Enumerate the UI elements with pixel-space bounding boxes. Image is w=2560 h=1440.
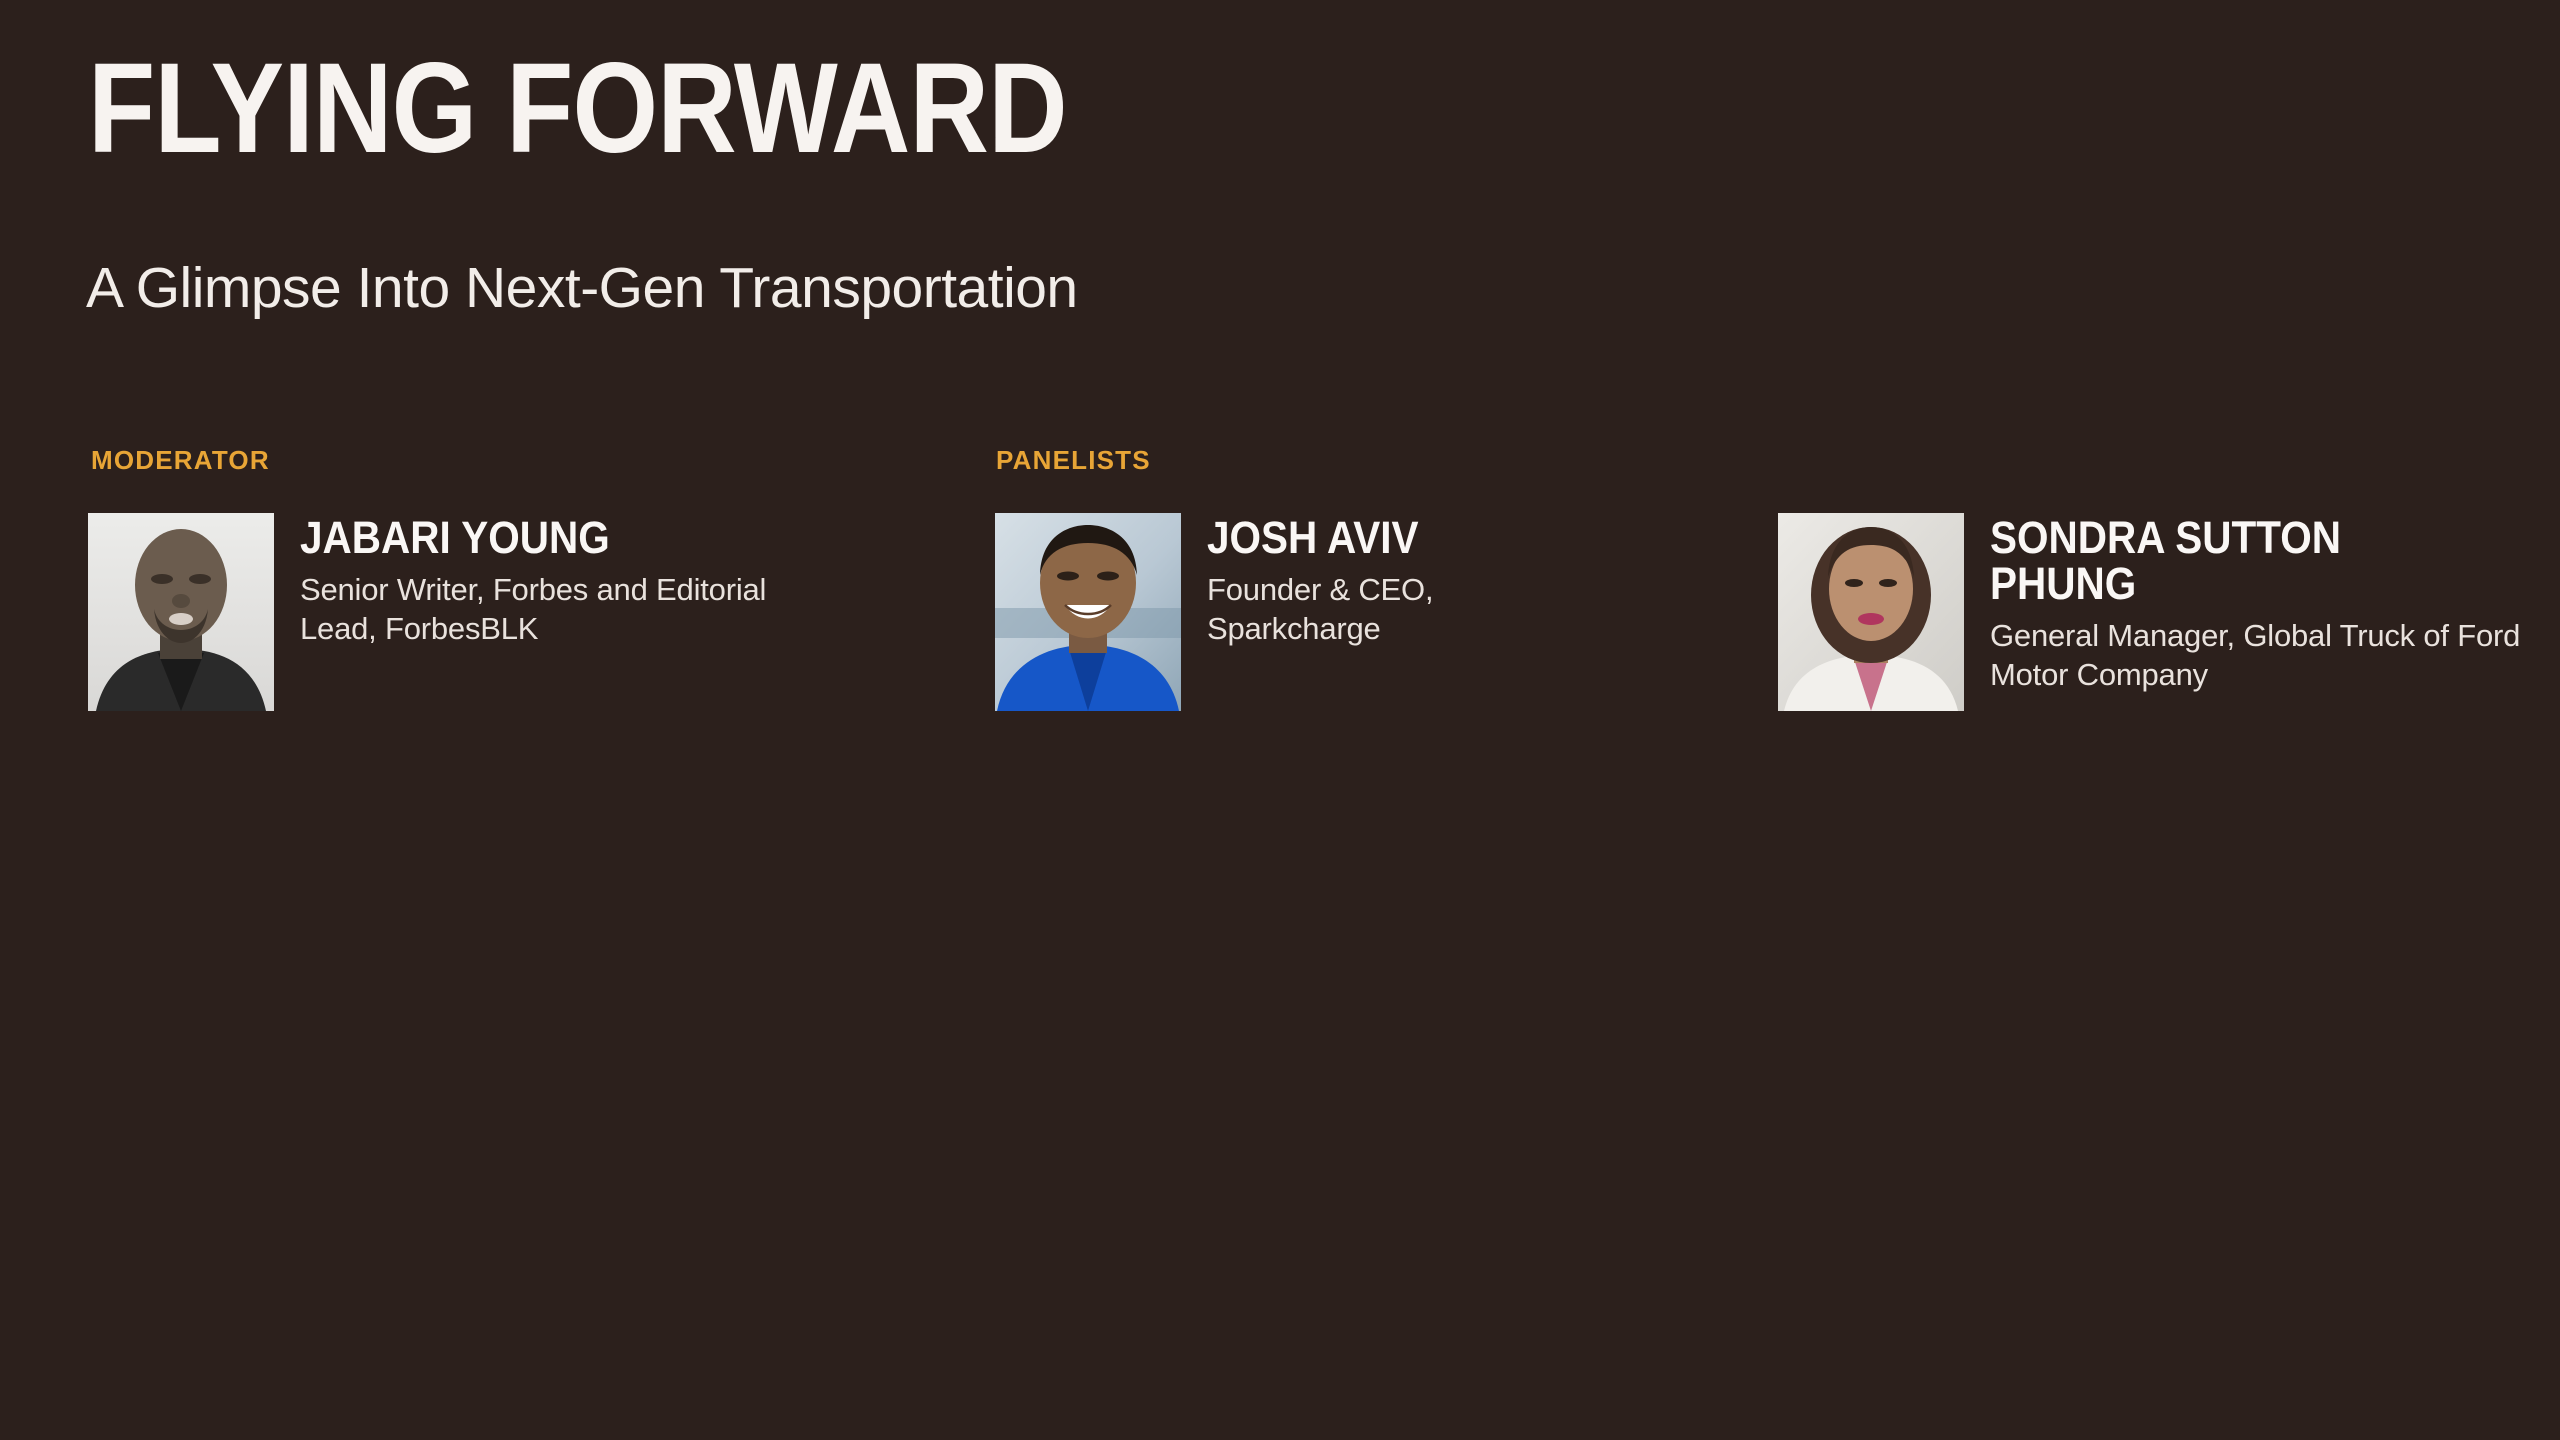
- person-title: Founder & CEO, Sparkcharge: [1207, 570, 1475, 648]
- person-info: JABARI YOUNG Senior Writer, Forbes and E…: [300, 513, 840, 648]
- person-card-panelist-2: SONDRA SUTTON PHUNG General Manager, Glo…: [1778, 513, 2538, 711]
- headshot-jabari-young: [88, 513, 274, 711]
- headshot-sondra-sutton-phung: [1778, 513, 1964, 711]
- person-name: JOSH AVIV: [1207, 515, 1448, 561]
- person-title: General Manager, Global Truck of Ford Mo…: [1990, 616, 2530, 694]
- person-card-moderator: JABARI YOUNG Senior Writer, Forbes and E…: [88, 513, 888, 711]
- person-title: Senior Writer, Forbes and Editorial Lead…: [300, 570, 840, 648]
- headshot-josh-aviv: [995, 513, 1181, 711]
- person-card-panelist-1: JOSH AVIV Founder & CEO, Sparkcharge: [995, 513, 1475, 711]
- section-label-panelists: PANELISTS: [996, 445, 1151, 476]
- person-info: JOSH AVIV Founder & CEO, Sparkcharge: [1207, 513, 1475, 648]
- page-title: FLYING FORWARD: [88, 48, 1067, 171]
- person-name: SONDRA SUTTON PHUNG: [1990, 515, 2483, 607]
- person-name: JABARI YOUNG: [300, 515, 786, 561]
- section-label-moderator: MODERATOR: [91, 445, 270, 476]
- page-subtitle: A Glimpse Into Next-Gen Transportation: [86, 258, 1078, 320]
- person-info: SONDRA SUTTON PHUNG General Manager, Glo…: [1990, 513, 2538, 694]
- presentation-slide: FLYING FORWARD A Glimpse Into Next-Gen T…: [0, 0, 2560, 1440]
